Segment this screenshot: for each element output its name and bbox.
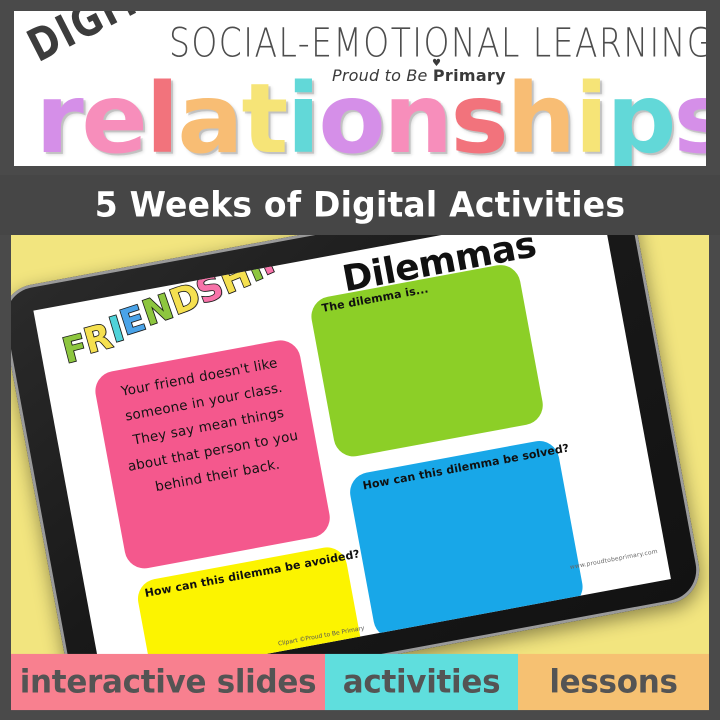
- subtitle-text: 5 Weeks of Digital Activities: [0, 173, 720, 237]
- tab-interactive-slides[interactable]: interactive slides: [11, 654, 325, 710]
- title-letter-8: s: [451, 73, 508, 165]
- subtitle-band: 5 Weeks of Digital Activities: [0, 175, 720, 235]
- footer-band: interactive slides activities lessons: [0, 655, 720, 720]
- title-letter-11: p: [606, 73, 675, 165]
- tab-activities[interactable]: activities: [325, 654, 518, 710]
- title-letter-0: r: [36, 73, 83, 165]
- product-cover: SOCIAL-EMOTIONAL LEARNING DIGITAL Proud …: [0, 0, 720, 720]
- title-letter-1: e: [82, 73, 147, 165]
- title-letter-7: n: [383, 73, 452, 165]
- main-title-relationships: relationships: [36, 73, 696, 165]
- title-letter-2: l: [146, 73, 179, 165]
- title-letter-4: t: [242, 73, 288, 165]
- tablet-screen: FRIENDSHIP Dilemmas Your friend doesn't …: [33, 235, 671, 655]
- scenario-card: Your friend doesn't like someone in your…: [92, 337, 333, 572]
- tab-lessons[interactable]: lessons: [518, 654, 709, 710]
- product-photo: FRIENDSHIP Dilemmas Your friend doesn't …: [11, 235, 709, 655]
- header-card: SOCIAL-EMOTIONAL LEARNING DIGITAL Proud …: [14, 11, 706, 166]
- scenario-text: Your friend doesn't like someone in your…: [106, 349, 312, 506]
- header-band: SOCIAL-EMOTIONAL LEARNING DIGITAL Proud …: [0, 0, 720, 175]
- page-title: SOCIAL-EMOTIONAL LEARNING: [169, 20, 693, 67]
- title-letter-12: s: [674, 73, 706, 165]
- worksheet-watermark: www.proudtobeprimary.com: [569, 548, 658, 571]
- title-letter-5: i: [287, 73, 320, 165]
- title-letter-9: h: [507, 73, 576, 165]
- title-letter-10: i: [574, 73, 607, 165]
- tablet-device: FRIENDSHIP Dilemmas Your friend doesn't …: [11, 235, 705, 655]
- title-letter-6: o: [318, 73, 384, 165]
- title-letter-3: a: [178, 73, 243, 165]
- worksheet-slide: FRIENDSHIP Dilemmas Your friend doesn't …: [33, 235, 671, 655]
